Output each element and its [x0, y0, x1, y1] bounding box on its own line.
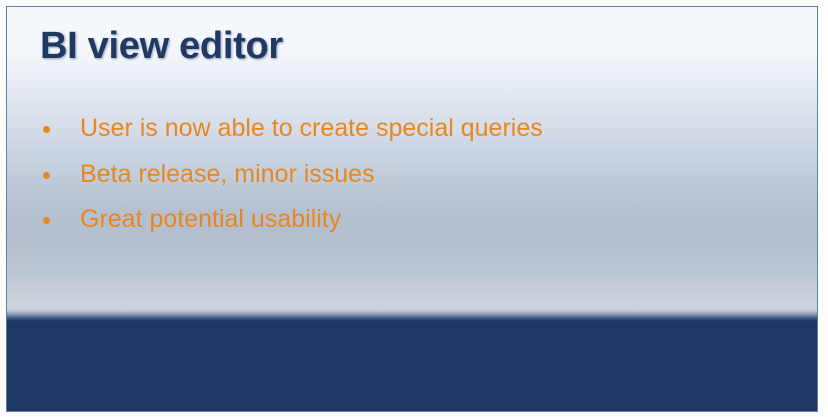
bullet-item-label: User is now able to create special queri… [80, 115, 777, 143]
bullet-dot-icon [43, 126, 50, 133]
slide-footer-band [7, 321, 817, 411]
presentation-slide[interactable]: BI view editor User is now able to creat… [6, 6, 818, 412]
slide-band-transition [7, 309, 817, 321]
bullet-list-item: User is now able to create special queri… [43, 115, 777, 143]
bullet-list: User is now able to create special queri… [43, 115, 777, 234]
bullet-list-item: Beta release, minor issues [43, 161, 777, 189]
bullet-list-item: Great potential usability [43, 206, 777, 234]
bullet-dot-icon [43, 217, 50, 224]
slide-canvas: BI view editor User is now able to creat… [0, 0, 828, 417]
bullet-dot-icon [43, 172, 50, 179]
bullet-item-label: Great potential usability [80, 206, 777, 234]
bullet-item-label: Beta release, minor issues [80, 161, 777, 189]
slide-title: BI view editor [40, 25, 283, 69]
